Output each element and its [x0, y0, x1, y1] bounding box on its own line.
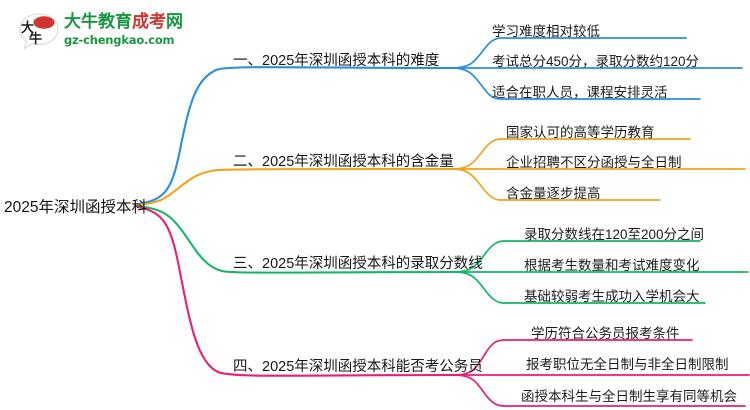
leaf-node-1-1[interactable]: 学习难度相对较低 [492, 20, 600, 40]
leaf-node-1-3[interactable]: 适合在职人员，课程安排灵活 [492, 81, 668, 101]
leaf-node-2-2[interactable]: 企业招聘不区分函授与全日制 [506, 151, 682, 171]
branch-node-4[interactable]: 四、2025年深圳函授本科能否考公务员 [233, 355, 483, 376]
svg-text:牛: 牛 [29, 31, 42, 47]
logo-wordmark: 大牛教育成考网 gz-chengkao.com [64, 12, 183, 47]
leaf-node-2-3[interactable]: 含金量逐步提高 [506, 182, 601, 202]
root-node[interactable]: 2025年深圳函授本科 [4, 195, 147, 217]
logo-brand-part-3: 网 [166, 12, 183, 31]
site-logo[interactable]: 大 牛 大牛教育成考网 gz-chengkao.com [18, 10, 198, 54]
leaf-node-1-2[interactable]: 考试总分450分，录取分数约120分 [492, 50, 699, 70]
leaf-node-4-3[interactable]: 函授本科生与全日制生享有同等机会 [521, 385, 737, 405]
leaf-node-3-3[interactable]: 基础较弱考生成功入学机会大 [524, 285, 700, 305]
logo-brand-name: 大牛教育成考网 [64, 12, 183, 31]
leaf-node-4-2[interactable]: 报考职位无全日制与非全日制限制 [526, 353, 729, 373]
leaf-node-3-1[interactable]: 录取分数线在120至200分之间 [524, 223, 704, 243]
logo-brand-part-1: 大牛教育 [64, 12, 132, 31]
logo-domain: gz-chengkao.com [64, 33, 183, 47]
logo-bubble-icon: 大 牛 [18, 12, 60, 52]
logo-brand-part-2: 成考 [132, 12, 166, 31]
leaf-node-4-1[interactable]: 学历符合公务员报考条件 [531, 322, 680, 342]
leaf-node-3-2[interactable]: 根据考生数量和考试难度变化 [524, 254, 700, 274]
branch-2-connector [138, 139, 745, 205]
leaf-node-2-1[interactable]: 国家认可的高等学历教育 [506, 121, 655, 141]
branch-node-1[interactable]: 一、2025年深圳函授本科的难度 [233, 49, 439, 70]
branch-node-3[interactable]: 三、2025年深圳函授本科的录取分数线 [233, 252, 483, 273]
branch-node-2[interactable]: 二、2025年深圳函授本科的含金量 [233, 150, 454, 171]
mindmap-canvas: 大 牛 大牛教育成考网 gz-chengkao.com 2025年深圳函授本科 … [0, 0, 750, 410]
